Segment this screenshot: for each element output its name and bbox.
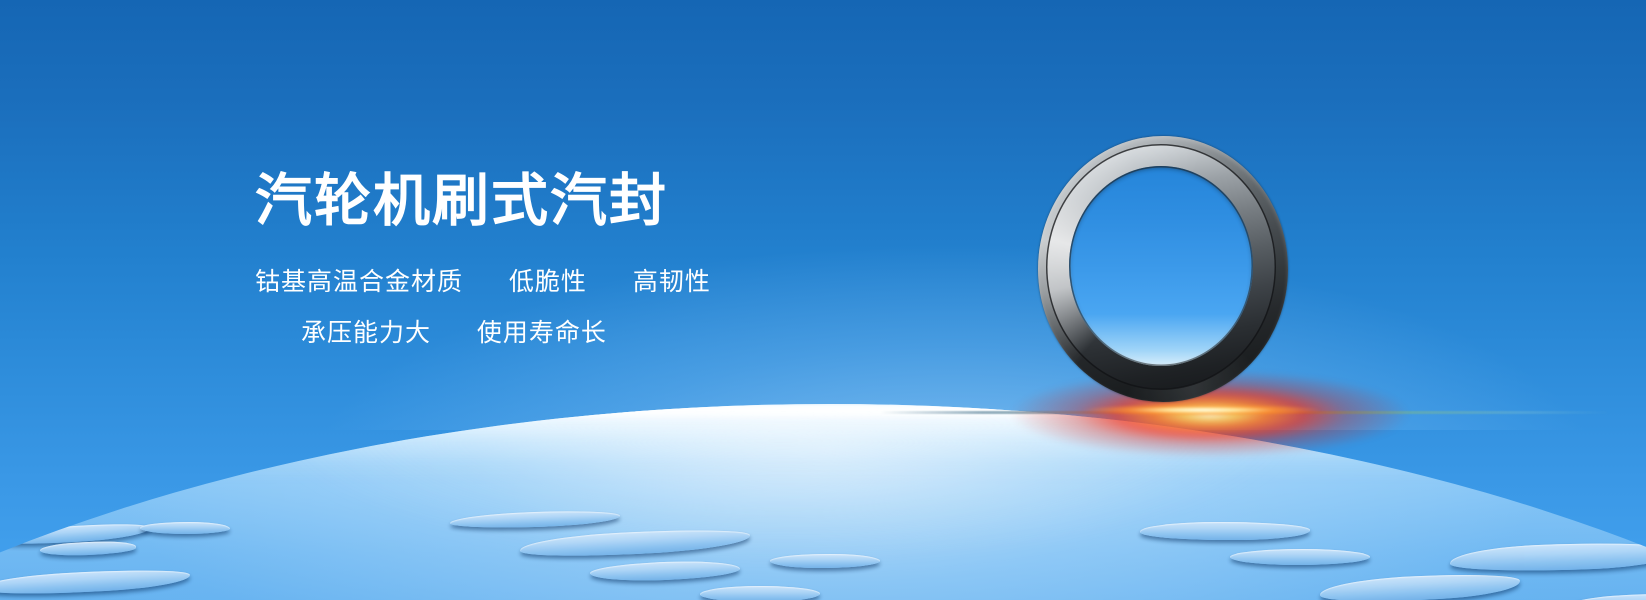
feature-item: 承压能力大 (301, 319, 431, 347)
feature-item: 低脆性 (509, 268, 587, 296)
ring-bore (1069, 166, 1253, 366)
product-seal-ring-image (1038, 136, 1288, 402)
landmass (1230, 549, 1370, 565)
feature-line-2: 承压能力大 使用寿命长 (255, 321, 955, 346)
banner-headline: 汽轮机刷式汽封 (255, 172, 955, 232)
landmass (700, 586, 820, 600)
ring-bore-edge (1069, 166, 1253, 366)
feature-line-1: 钴基高温合金材质 低脆性 高韧性 (255, 270, 955, 295)
feature-item: 使用寿命长 (477, 319, 607, 347)
banner-copy: 汽轮机刷式汽封 钴基高温合金材质 低脆性 高韧性 承压能力大 使用寿命长 (255, 172, 955, 346)
landmass (1140, 522, 1310, 540)
red-flare-core (1082, 404, 1322, 416)
feature-item: 钴基高温合金材质 (255, 268, 463, 296)
hero-banner: 汽轮机刷式汽封 钴基高温合金材质 低脆性 高韧性 承压能力大 使用寿命长 (0, 0, 1646, 600)
landmass (140, 522, 230, 534)
feature-item: 高韧性 (633, 268, 711, 296)
